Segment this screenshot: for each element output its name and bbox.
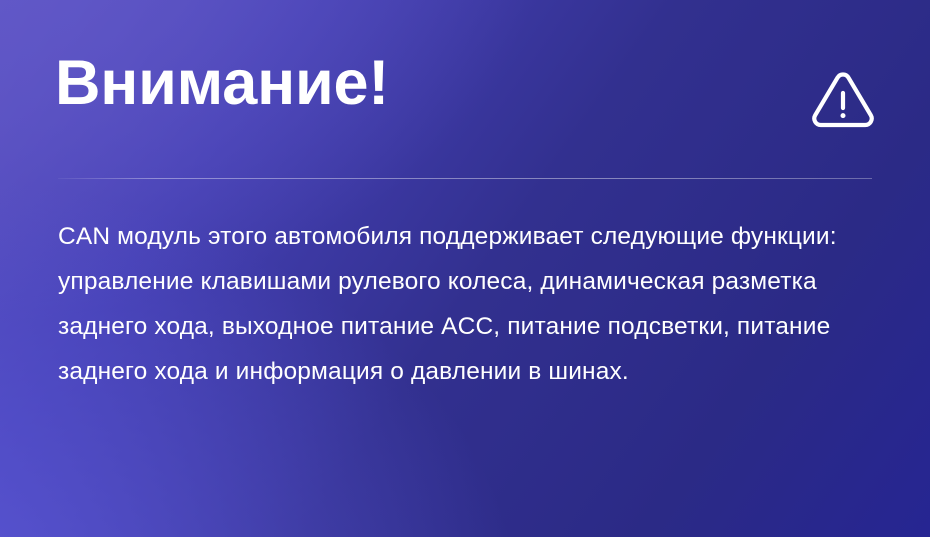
banner-header: Внимание! (0, 0, 930, 170)
body-paragraph-1: CAN модуль этого автомобиля поддерживает… (58, 214, 888, 259)
header-divider (58, 178, 872, 179)
banner-body: CAN модуль этого автомобиля поддерживает… (58, 214, 888, 394)
page-title: Внимание! (55, 47, 389, 119)
warning-triangle-icon (810, 68, 876, 130)
body-paragraph-2: управление клавишами рулевого колеса, ди… (58, 259, 888, 394)
warning-notice-banner: Внимание! CAN модуль этого автомобиля по… (0, 0, 930, 537)
